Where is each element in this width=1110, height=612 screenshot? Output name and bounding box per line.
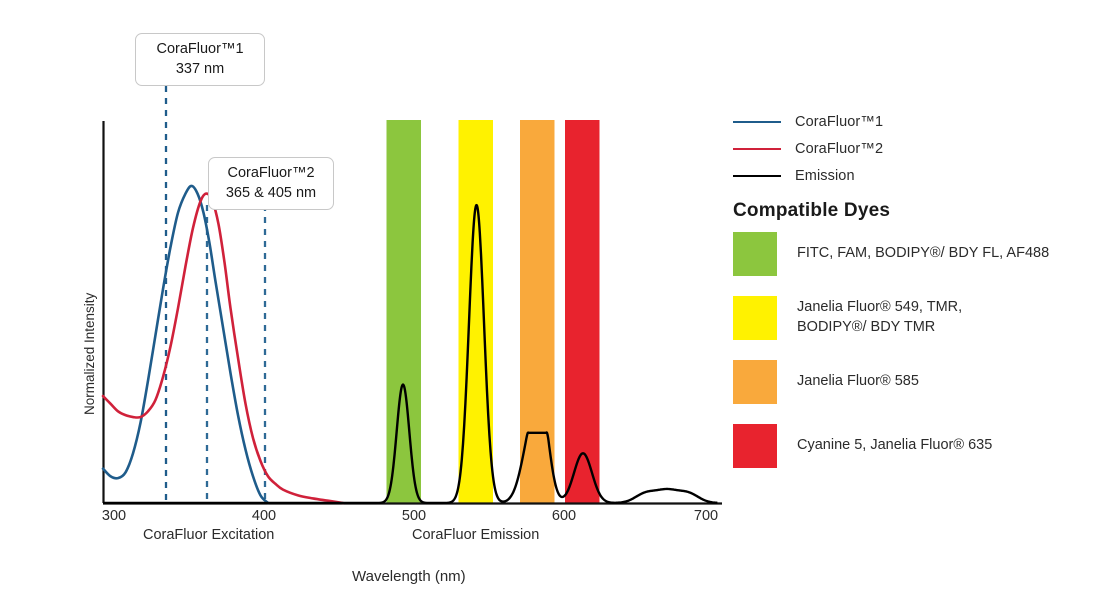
dye-label: Janelia Fluor® 585 (797, 372, 919, 392)
corafluor-1-excitation-note: CoraFluor™1 337 nm (135, 33, 265, 86)
dye-item-red: Cyanine 5, Janelia Fluor® 635 (733, 424, 1103, 468)
emission-filter-bands (387, 120, 600, 503)
x-tick-700: 700 (694, 508, 718, 524)
dye-swatch-red (733, 424, 777, 468)
curve-excitation-359 (103, 186, 268, 503)
dye-item-orange: Janelia Fluor® 585 (733, 360, 1103, 404)
dye-item-green: FITC, FAM, BODIPY®/ BDY FL, AF488 (733, 232, 1103, 276)
dye-label: FITC, FAM, BODIPY®/ BDY FL, AF488 (797, 244, 1049, 264)
emission-region-caption: CoraFluor Emission (412, 527, 539, 543)
dye-label: Cyanine 5, Janelia Fluor® 635 (797, 436, 992, 456)
anno-2-line2: 365 & 405 nm (219, 184, 323, 204)
x-tick-500: 500 (402, 508, 426, 524)
legend-label: Emission (795, 168, 855, 184)
legend-label: CoraFluor™1 (795, 114, 883, 130)
dye-swatch-orange (733, 360, 777, 404)
compatible-dyes-title: Compatible Dyes (733, 200, 890, 222)
dye-label: Janelia Fluor® 549, TMR, BODIPY®/ BDY TM… (797, 298, 962, 337)
y-axis-label: Normalized Intensity (82, 293, 97, 415)
compatible-dyes-list: FITC, FAM, BODIPY®/ BDY FL, AF488 Janeli… (733, 232, 1103, 484)
red-band (565, 120, 600, 503)
corafluor-2-excitation-note: CoraFluor™2 365 & 405 nm (208, 157, 334, 210)
x-tick-600: 600 (552, 508, 576, 524)
green-band (387, 120, 422, 503)
x-axis-label: Wavelength (nm) (352, 568, 466, 585)
legend-label: CoraFluor™2 (795, 141, 883, 157)
dye-swatch-yellow (733, 296, 777, 340)
x-tick-300: 300 (102, 508, 126, 524)
dye-swatch-green (733, 232, 777, 276)
legend-swatch-line (733, 175, 781, 177)
curve-excitation-369 (103, 194, 343, 503)
legend-item-emission: Emission (733, 162, 1093, 189)
legend-swatch-line (733, 121, 781, 123)
legend-item-corafluor-1: CoraFluor™1 (733, 108, 1093, 135)
excitation-region-caption: CoraFluor Excitation (143, 527, 274, 543)
anno-2-line1: CoraFluor™2 (219, 164, 323, 184)
dye-item-yellow: Janelia Fluor® 549, TMR, BODIPY®/ BDY TM… (733, 296, 1103, 340)
anno-1-line2: 337 nm (146, 60, 254, 80)
x-tick-400: 400 (252, 508, 276, 524)
legend-item-corafluor-2: CoraFluor™2 (733, 135, 1093, 162)
anno-1-line1: CoraFluor™1 (146, 40, 254, 60)
legend-swatch-line (733, 148, 781, 150)
series-legend: CoraFluor™1 CoraFluor™2 Emission (733, 108, 1093, 189)
